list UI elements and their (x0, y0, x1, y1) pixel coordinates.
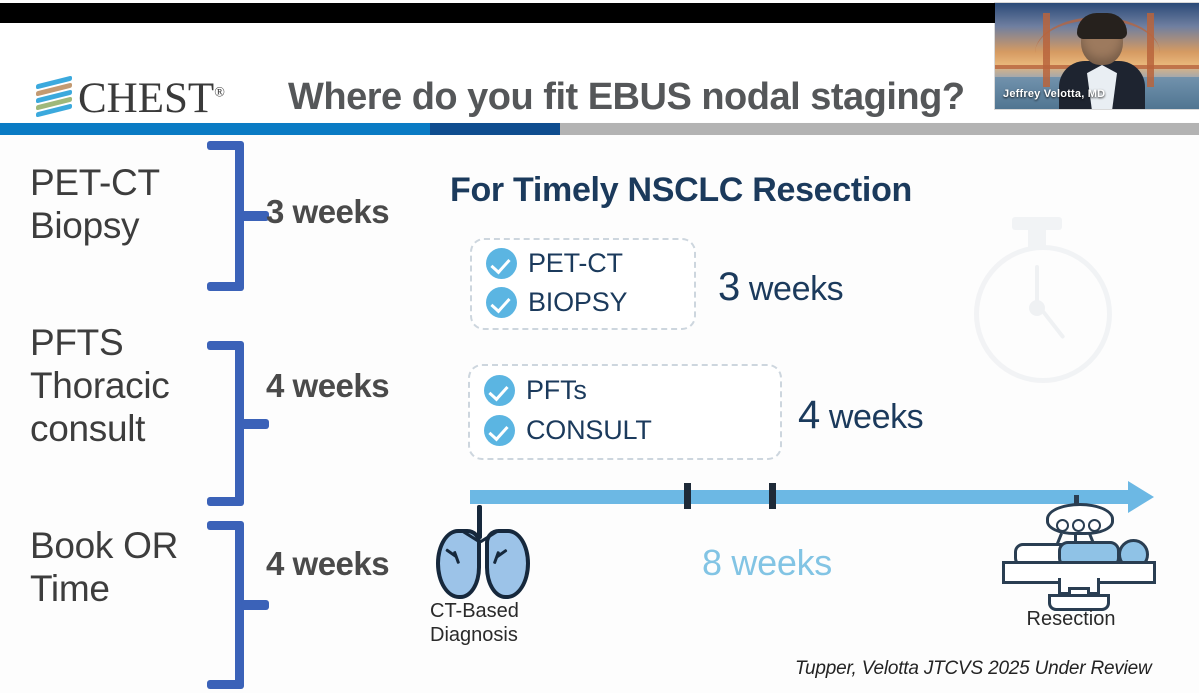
operating-table-icon (996, 495, 1156, 605)
card-duration: 4 weeks (798, 393, 923, 438)
step-line: consult (30, 408, 169, 451)
check-circle-icon (484, 375, 515, 406)
registered-mark: ® (214, 85, 225, 100)
timeline-end-caption: Resection (996, 607, 1146, 631)
participant-name-label: Jeffrey Velotta, MD (1003, 88, 1105, 100)
panel-title: For Timely NSCLC Resection (450, 171, 912, 210)
card-duration-number: 3 (718, 265, 740, 309)
card-duration: 3 weeks (718, 265, 843, 310)
checklist-card: PFTs CONSULT (468, 364, 782, 460)
chest-logo: CHEST® (36, 75, 225, 121)
lungs-icon (434, 505, 526, 591)
step-line: Book OR (30, 525, 178, 568)
slide-stage: CHEST® Where do you fit EBUS nodal stagi… (0, 0, 1199, 693)
timeline-panel: For Timely NSCLC Resection PET-CT BIOPSY… (430, 135, 1199, 693)
caption-line: CT-Based (430, 599, 560, 623)
card-duration-number: 4 (798, 393, 820, 437)
step-duration: 4 weeks (266, 545, 389, 583)
timeline-total-label: 8 weeks (702, 542, 832, 584)
step-line: PET-CT (30, 162, 160, 205)
checklist-item-label: PET-CT (528, 248, 623, 279)
workflow-step-label: PET-CT Biopsy (30, 162, 160, 248)
step-line: Biopsy (30, 205, 160, 248)
chest-logo-mark-icon (36, 78, 72, 118)
caption-line: Resection (996, 607, 1146, 631)
check-circle-icon (486, 287, 517, 318)
presentation-progress-bar[interactable] (0, 123, 1199, 135)
check-circle-icon (486, 248, 517, 279)
check-circle-icon (484, 415, 515, 446)
checklist-item-label: BIOPSY (528, 287, 627, 318)
step-duration: 3 weeks (266, 193, 389, 231)
card-duration-unit: weeks (749, 270, 843, 308)
checklist-item[interactable]: PFTs (484, 375, 587, 406)
timeline-tick-icon (769, 483, 776, 509)
progress-current-segment (430, 123, 560, 135)
checklist-item-label: PFTs (526, 375, 587, 406)
chest-logo-text: CHEST (78, 75, 214, 122)
brace-bracket (205, 341, 253, 506)
step-line: Thoracic (30, 365, 169, 408)
brace-bracket (205, 521, 253, 689)
slide-body: PET-CT Biopsy PFTS Thoracic consult Book… (0, 135, 1199, 693)
chest-logo-wordmark: CHEST® (78, 77, 225, 120)
timeline-start-caption: CT-Based Diagnosis (430, 599, 560, 648)
citation-text: Tupper, Velotta JTCVS 2025 Under Review (795, 658, 1152, 680)
workflow-step-label: Book OR Time (30, 525, 178, 611)
caption-line: Diagnosis (430, 623, 560, 647)
brace-bracket (205, 141, 253, 291)
card-duration-unit: weeks (829, 398, 923, 436)
checklist-item[interactable]: BIOPSY (486, 287, 627, 318)
bridge-tower-icon (1043, 13, 1050, 87)
checklist-item[interactable]: CONSULT (484, 415, 652, 446)
step-line: Time (30, 568, 178, 611)
workflow-step-label: PFTS Thoracic consult (30, 322, 169, 451)
bridge-tower-icon (1147, 13, 1154, 87)
progress-filled-segment (0, 123, 430, 135)
timeline-tick-icon (684, 483, 691, 509)
step-line: PFTS (30, 322, 169, 365)
stopwatch-icon (956, 213, 1116, 383)
step-duration: 4 weeks (266, 367, 389, 405)
checklist-card: PET-CT BIOPSY (470, 238, 696, 330)
video-thumbnail[interactable]: Jeffrey Velotta, MD (995, 3, 1199, 109)
checklist-item[interactable]: PET-CT (486, 248, 623, 279)
checklist-item-label: CONSULT (526, 415, 652, 446)
